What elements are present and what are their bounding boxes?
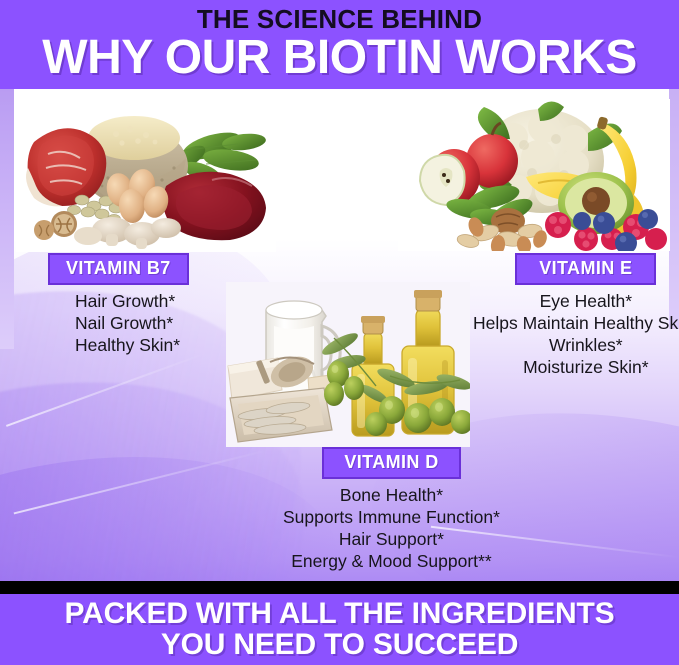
footer-line-2: YOU NEED TO SUCCEED [0, 628, 679, 661]
benefit-item: Nail Growth* [75, 312, 189, 334]
header-kicker-text: THE SCIENCE BEHIND [0, 4, 679, 34]
benefit-item: Bone Health* [283, 484, 500, 506]
content-canvas: VITAMIN B7 Hair Growth* Nail Growth* Hea… [0, 89, 679, 581]
benefit-item: Moisturize Skin* [473, 356, 679, 378]
page-title: WHY OUR BIOTIN WORKS [0, 32, 679, 84]
benefit-item: Hair Growth* [75, 290, 189, 312]
photo-vitamin-b7-foods [16, 102, 276, 252]
footer-line-1: PACKED WITH ALL THE INGREDIENTS [0, 597, 679, 630]
footer-divider-bar [0, 581, 679, 594]
vitamin-e-benefit-list: Eye Health* Helps Maintain Healthy Skin*… [473, 290, 679, 378]
vitamin-b7-label: VITAMIN B7 [48, 253, 189, 285]
benefit-item: Energy & Mood Support** [283, 550, 500, 572]
vitamin-e-label: VITAMIN E [515, 253, 656, 285]
vitamin-block-e: VITAMIN E Eye Health* Helps Maintain Hea… [473, 253, 679, 378]
vitamin-d-label: VITAMIN D [322, 447, 460, 479]
vitamin-block-b7: VITAMIN B7 Hair Growth* Nail Growth* Hea… [48, 253, 189, 356]
left-edge-accent [0, 89, 14, 349]
benefit-item: Wrinkles* [473, 334, 679, 356]
infographic-poster: THE SCIENCE BEHIND WHY OUR BIOTIN WORKS [0, 0, 679, 665]
benefit-item: Eye Health* [473, 290, 679, 312]
vitamin-block-d: VITAMIN D Bone Health* Supports Immune F… [283, 447, 500, 572]
photo-vitamin-e-foods [398, 99, 670, 251]
benefit-item: Supports Immune Function* [283, 506, 500, 528]
benefit-item: Healthy Skin* [75, 334, 189, 356]
header-banner: THE SCIENCE BEHIND WHY OUR BIOTIN WORKS [0, 0, 679, 89]
benefit-item: Hair Support* [283, 528, 500, 550]
photo-vitamin-d-foods [226, 282, 470, 447]
vitamin-b7-benefit-list: Hair Growth* Nail Growth* Healthy Skin* [75, 290, 189, 356]
vitamin-d-benefit-list: Bone Health* Supports Immune Function* H… [283, 484, 500, 572]
benefit-item: Helps Maintain Healthy Skin* [473, 312, 679, 334]
footer-banner: PACKED WITH ALL THE INGREDIENTS YOU NEED… [0, 594, 679, 665]
